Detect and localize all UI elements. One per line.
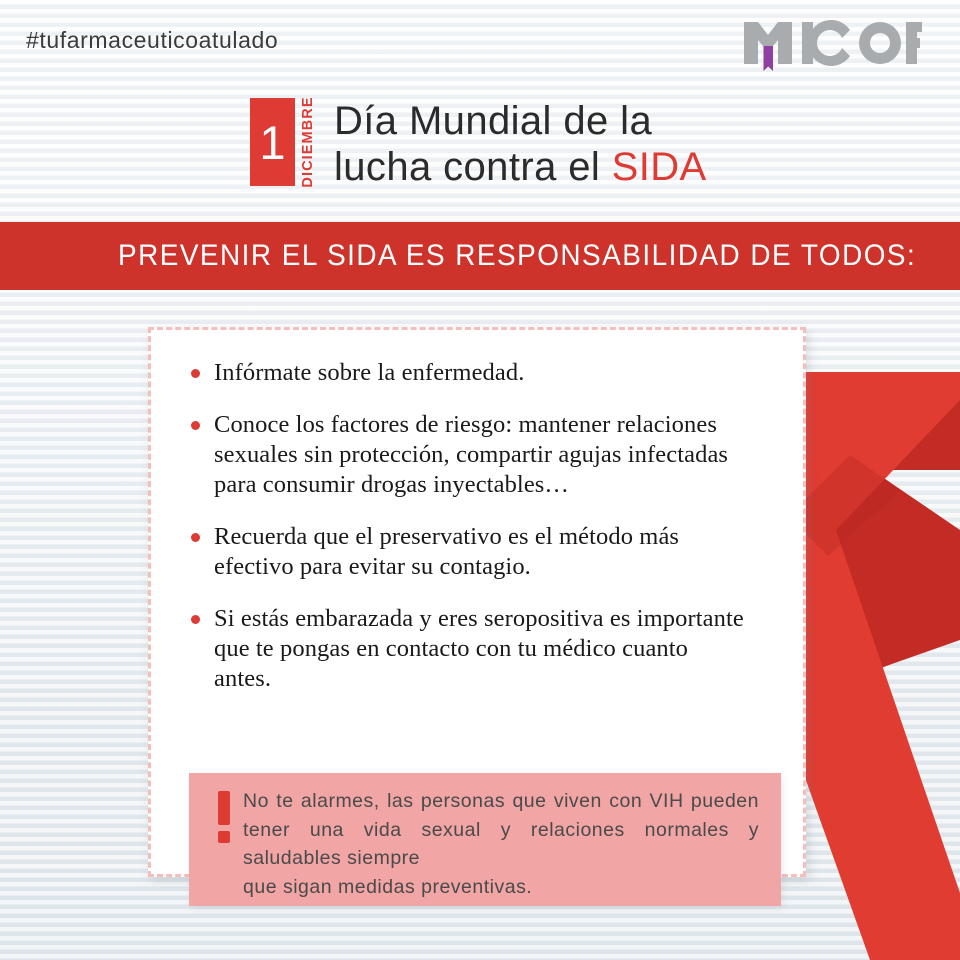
list-item: Conoce los factores de riesgo: mantener … bbox=[187, 410, 747, 500]
bullet-dot-icon bbox=[191, 421, 200, 430]
bullet-dot-icon bbox=[191, 369, 200, 378]
date-day: 1 bbox=[259, 119, 285, 166]
exclamation-dot bbox=[218, 831, 230, 843]
bullet-dot-icon bbox=[191, 615, 200, 624]
warning-text-lastline: que sigan medidas preventivas. bbox=[243, 873, 759, 902]
micof-logo-svg bbox=[742, 18, 922, 74]
banner-text: PREVENIR EL SIDA ES RESPONSABILIDAD DE T… bbox=[118, 239, 916, 273]
list-item: Infórmate sobre la enfermedad. bbox=[187, 358, 747, 388]
exclamation-mark-icon bbox=[205, 787, 243, 843]
micof-logo bbox=[742, 18, 922, 74]
title-line-1: Día Mundial de la bbox=[334, 98, 707, 144]
banner: PREVENIR EL SIDA ES RESPONSABILIDAD DE T… bbox=[0, 222, 960, 290]
bullet-list: Infórmate sobre la enfermedad. Conoce lo… bbox=[187, 358, 747, 694]
exclamation-bar bbox=[218, 791, 230, 825]
date-month: DICIEMBRE bbox=[295, 98, 321, 186]
warning-box: No te alarmes, las personas que viven co… bbox=[189, 773, 781, 906]
title-line-2: lucha contra el SIDA bbox=[334, 144, 707, 190]
page-title: Día Mundial de la lucha contra el SIDA bbox=[334, 98, 707, 190]
date-month-label: DICIEMBRE bbox=[300, 96, 316, 187]
warning-text: No te alarmes, las personas que viven co… bbox=[243, 787, 759, 901]
list-item: Si estás embarazada y eres seropositiva … bbox=[187, 604, 747, 694]
list-item-text: Conoce los factores de riesgo: mantener … bbox=[214, 411, 728, 498]
date-badge: 1 bbox=[250, 98, 295, 186]
bullet-dot-icon bbox=[191, 533, 200, 542]
title-highlight-sida: SIDA bbox=[612, 145, 707, 189]
list-item-text: Si estás embarazada y eres seropositiva … bbox=[214, 605, 744, 692]
hashtag-text: #tufarmaceuticoatulado bbox=[26, 27, 278, 54]
list-item-text: Infórmate sobre la enfermedad. bbox=[214, 359, 524, 386]
warning-text-body: No te alarmes, las personas que viven co… bbox=[243, 790, 759, 869]
title-line-2-prefix: lucha contra el bbox=[334, 145, 612, 189]
list-item: Recuerda que el preservativo es el métod… bbox=[187, 522, 747, 582]
list-item-text: Recuerda que el preservativo es el métod… bbox=[214, 523, 679, 580]
poster-canvas: #tufarmaceuticoatulado 1 DICIEMBRE Día M… bbox=[0, 0, 960, 960]
title-block: 1 DICIEMBRE Día Mundial de la lucha cont… bbox=[250, 98, 707, 190]
